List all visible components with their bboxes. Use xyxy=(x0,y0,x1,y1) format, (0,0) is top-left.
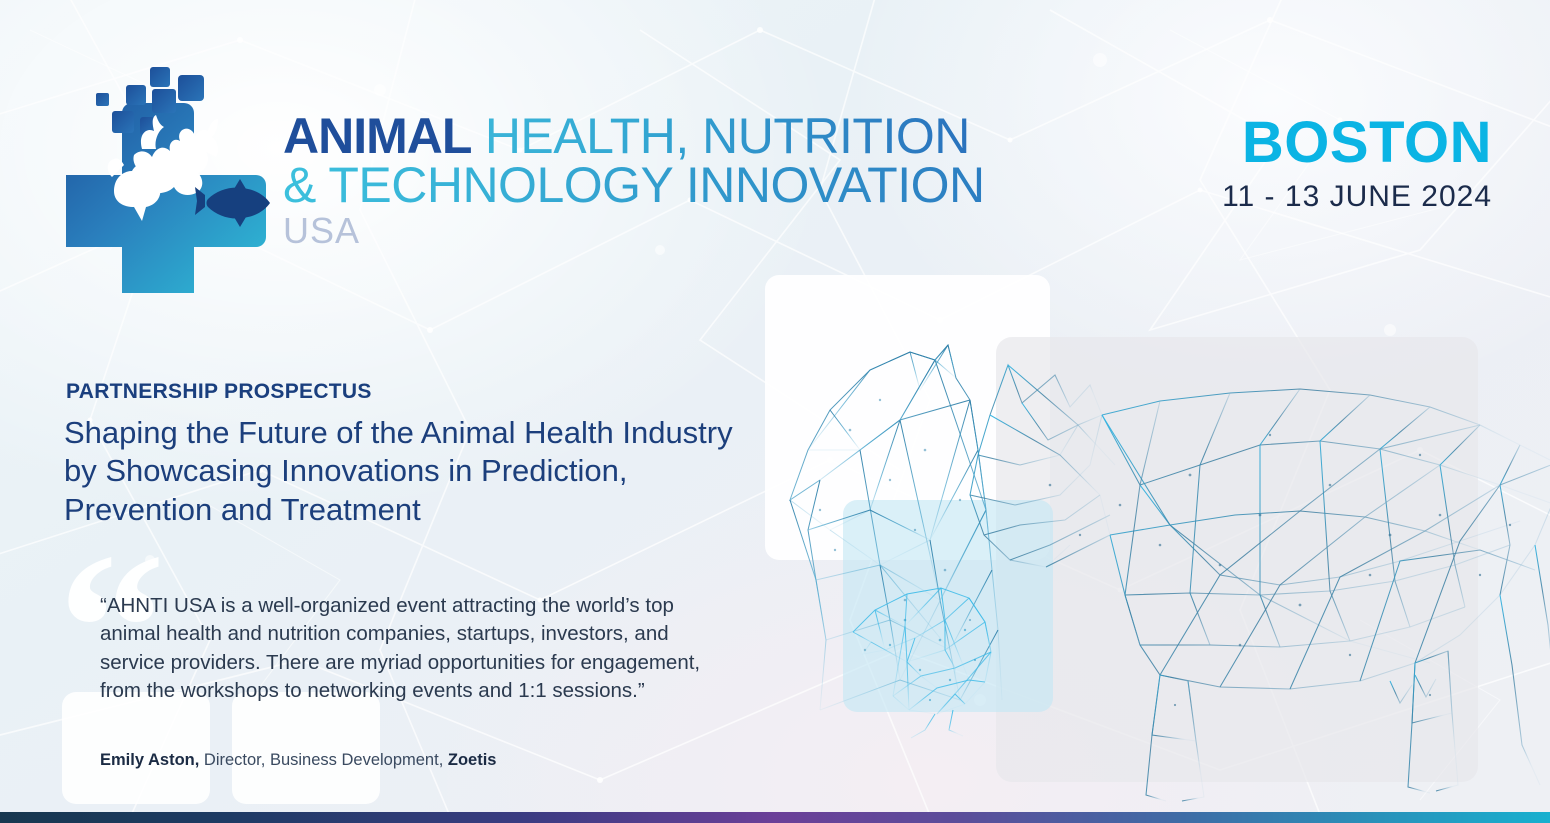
event-title-region: USA xyxy=(283,213,1083,248)
testimonial-role: Director, Business Development, xyxy=(204,751,443,769)
image-panel-blue xyxy=(843,500,1053,712)
poster-canvas: ANIMAL HEALTH, NUTRITION & TECHNOLOGY IN… xyxy=(0,0,1550,823)
event-title: ANIMAL HEALTH, NUTRITION & TECHNOLOGY IN… xyxy=(283,112,1083,248)
bottom-accent-bar xyxy=(0,812,1550,823)
event-title-health-nutrition: HEALTH, NUTRITION xyxy=(485,108,970,164)
event-city: BOSTON xyxy=(1222,114,1492,172)
testimonial-attribution: Emily Aston, Director, Business Developm… xyxy=(100,751,496,770)
event-title-line-2: & TECHNOLOGY INNOVATION xyxy=(283,161,1083,210)
page-eyebrow: PARTNERSHIP PROSPECTUS xyxy=(66,380,372,404)
event-title-animal: ANIMAL xyxy=(283,108,471,164)
testimonial-company: Zoetis xyxy=(448,751,497,769)
animal-health-cross-logo-icon xyxy=(66,63,276,293)
quote-backdrop-right xyxy=(232,692,380,804)
testimonial-text: “AHNTI USA is a well-organized event att… xyxy=(100,592,720,706)
page-title: Shaping the Future of the Animal Health … xyxy=(64,414,754,529)
event-location-block: BOSTON 11 - 13 JUNE 2024 xyxy=(1222,114,1492,214)
testimonial-author: Emily Aston, xyxy=(100,751,199,769)
event-dates: 11 - 13 JUNE 2024 xyxy=(1222,180,1492,214)
event-title-line-1: ANIMAL HEALTH, NUTRITION xyxy=(283,112,1083,161)
image-panel-grey xyxy=(996,337,1478,782)
